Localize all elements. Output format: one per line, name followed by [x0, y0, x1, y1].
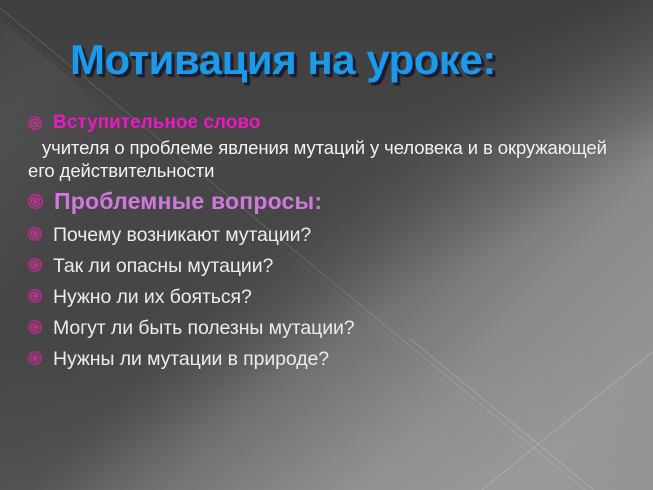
ring-bullet-icon — [28, 116, 42, 130]
list-item: Нужно ли их бояться? — [28, 285, 628, 309]
question-item: Нужно ли их бояться? — [53, 285, 252, 309]
list-item: Могут ли быть полезны мутации? — [28, 316, 628, 340]
ring-bullet-icon — [28, 194, 43, 209]
list-item: Нужны ли мутации в природе? — [28, 347, 628, 371]
ring-bullet-icon — [28, 258, 42, 272]
slide-canvas: Мотивация на уроке: Вступительное слово … — [0, 0, 653, 490]
slide-content: Мотивация на уроке: Вступительное слово … — [0, 0, 653, 490]
ring-bullet-icon — [28, 320, 42, 334]
question-item: Так ли опасны мутации? — [53, 254, 273, 278]
ring-bullet-icon — [28, 227, 42, 241]
intro-heading: Вступительное слово — [53, 112, 260, 134]
ring-bullet-icon — [28, 351, 42, 365]
ring-bullet-icon — [28, 289, 42, 303]
list-item: Так ли опасны мутации? — [28, 254, 628, 278]
list-item: Почему возникают мутации? — [28, 223, 628, 247]
list-item: Проблемные вопросы: — [28, 188, 628, 215]
slide-title: Мотивация на уроке: — [70, 36, 496, 84]
slide-body: Вступительное слово учителя о проблеме я… — [28, 112, 628, 378]
list-item: Вступительное слово — [28, 112, 628, 134]
intro-paragraph: учителя о проблеме явления мутаций у чел… — [28, 136, 626, 182]
question-item: Нужны ли мутации в природе? — [53, 347, 329, 371]
question-item: Почему возникают мутации? — [53, 223, 311, 247]
questions-heading: Проблемные вопросы: — [54, 188, 322, 215]
question-item: Могут ли быть полезны мутации? — [53, 316, 355, 340]
